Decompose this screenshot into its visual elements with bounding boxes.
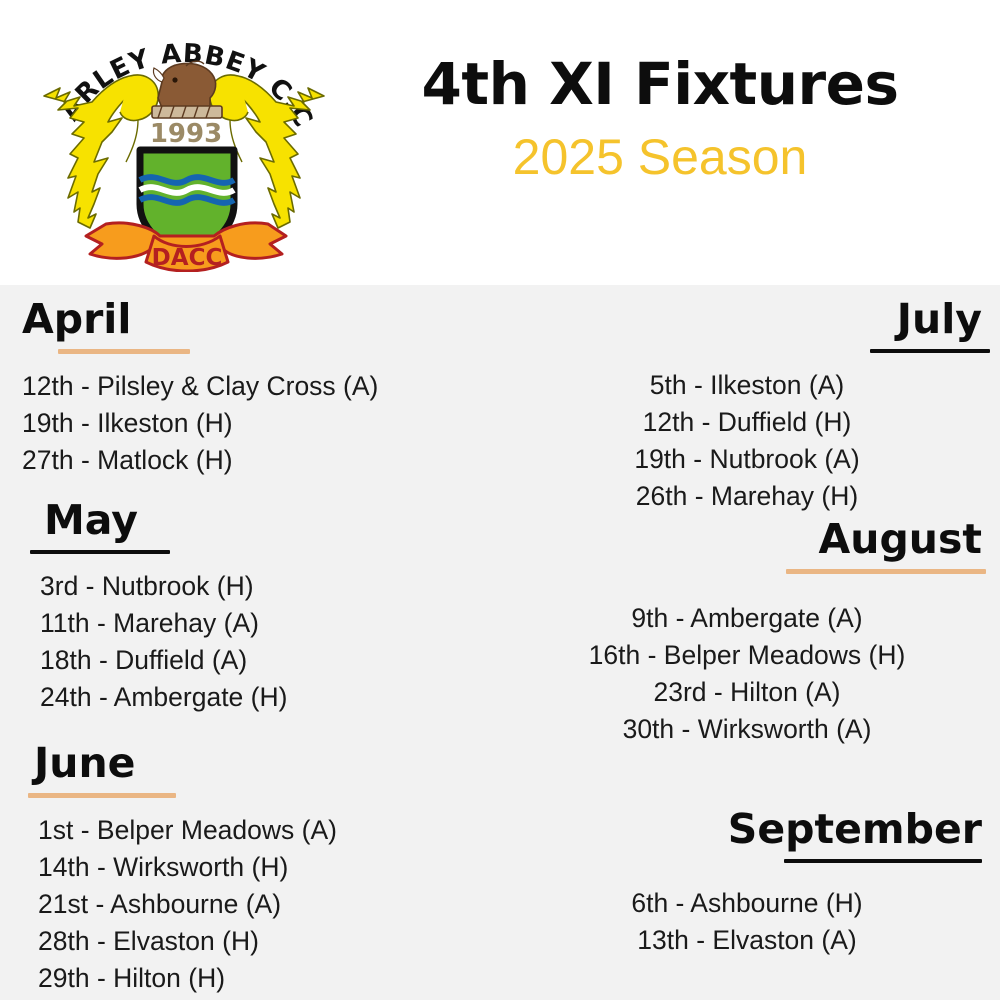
fixtures-columns: April 12th - Pilsley & Clay Cross (A) 19…	[0, 285, 1000, 1000]
fixtures-poster: DARLEY ABBEY C.C.	[0, 0, 1000, 1000]
month-block-september: September 6th - Ashbourne (H) 13th - Elv…	[512, 809, 1000, 959]
fixture-list-august: 9th - Ambergate (A) 16th - Belper Meadow…	[512, 600, 982, 748]
month-rule-july	[870, 349, 990, 353]
banner-text: DACC	[152, 245, 223, 271]
month-block-april: April 12th - Pilsley & Clay Cross (A) 19…	[22, 299, 492, 479]
fixture-item: 18th - Duffield (A)	[40, 642, 514, 679]
month-heading-august: August	[512, 519, 982, 560]
fixture-item: 29th - Hilton (H)	[38, 960, 504, 997]
month-heading-july: July	[512, 299, 982, 340]
crest-year: 1993	[150, 119, 222, 149]
fixture-item: 12th - Pilsley & Clay Cross (A)	[22, 368, 492, 405]
month-rule-april	[58, 349, 190, 354]
fixture-item: 5th - Ilkeston (A)	[512, 367, 982, 404]
month-heading-september: September	[512, 809, 982, 850]
month-rule-august	[786, 569, 986, 574]
fixtures-column-right: July 5th - Ilkeston (A) 12th - Duffield …	[512, 285, 982, 1000]
page-subtitle: 2025 Season	[380, 131, 940, 184]
fixtures-column-left: April 12th - Pilsley & Clay Cross (A) 19…	[22, 285, 492, 1000]
page-title: 4th XI Fixtures	[380, 54, 940, 115]
fixture-item: 21st - Ashbourne (A)	[38, 886, 504, 923]
poster-header: DARLEY ABBEY C.C.	[0, 0, 1000, 285]
fixture-item: 16th - Belper Meadows (H)	[512, 637, 982, 674]
fixture-item: 26th - Marehay (H)	[512, 478, 982, 515]
fixture-item: 24th - Ambergate (H)	[40, 679, 514, 716]
club-crest-logo: DARLEY ABBEY C.C.	[34, 22, 334, 272]
fixture-item: 19th - Nutbrook (A)	[512, 441, 982, 478]
fixture-item: 13th - Elvaston (A)	[512, 922, 982, 959]
month-rule-june	[28, 793, 176, 798]
fixture-list-may: 3rd - Nutbrook (H) 11th - Marehay (A) 18…	[40, 568, 514, 716]
title-block: 4th XI Fixtures 2025 Season	[380, 54, 940, 183]
fixture-item: 19th - Ilkeston (H)	[22, 405, 492, 442]
fixture-list-april: 12th - Pilsley & Clay Cross (A) 19th - I…	[22, 368, 492, 479]
fixture-item: 1st - Belper Meadows (A)	[38, 812, 504, 849]
fixture-item: 3rd - Nutbrook (H)	[40, 568, 514, 605]
fixture-item: 11th - Marehay (A)	[40, 605, 514, 642]
fixture-item: 6th - Ashbourne (H)	[512, 885, 982, 922]
fixture-item: 9th - Ambergate (A)	[512, 600, 982, 637]
month-heading-may: May	[44, 500, 514, 541]
fixture-item: 27th - Matlock (H)	[22, 442, 492, 479]
month-rule-may	[30, 550, 170, 554]
month-rule-september	[784, 859, 982, 863]
month-heading-june: June	[34, 743, 504, 784]
fixture-item: 30th - Wirksworth (A)	[512, 711, 982, 748]
fixture-list-june: 1st - Belper Meadows (A) 14th - Wirkswor…	[38, 812, 504, 997]
fixture-item: 28th - Elvaston (H)	[38, 923, 504, 960]
month-block-may: May 3rd - Nutbrook (H) 11th - Marehay (A…	[22, 500, 514, 716]
month-block-july: July 5th - Ilkeston (A) 12th - Duffield …	[512, 299, 1000, 515]
fixture-list-september: 6th - Ashbourne (H) 13th - Elvaston (A)	[512, 885, 982, 959]
fixture-list-july: 5th - Ilkeston (A) 12th - Duffield (H) 1…	[512, 367, 982, 515]
fixture-item: 23rd - Hilton (A)	[512, 674, 982, 711]
fixture-item: 14th - Wirksworth (H)	[38, 849, 504, 886]
fixture-item: 12th - Duffield (H)	[512, 404, 982, 441]
month-block-june: June 1st - Belper Meadows (A) 14th - Wir…	[22, 743, 504, 997]
month-block-august: August 9th - Ambergate (A) 16th - Belper…	[512, 519, 1000, 748]
month-heading-april: April	[22, 299, 492, 340]
